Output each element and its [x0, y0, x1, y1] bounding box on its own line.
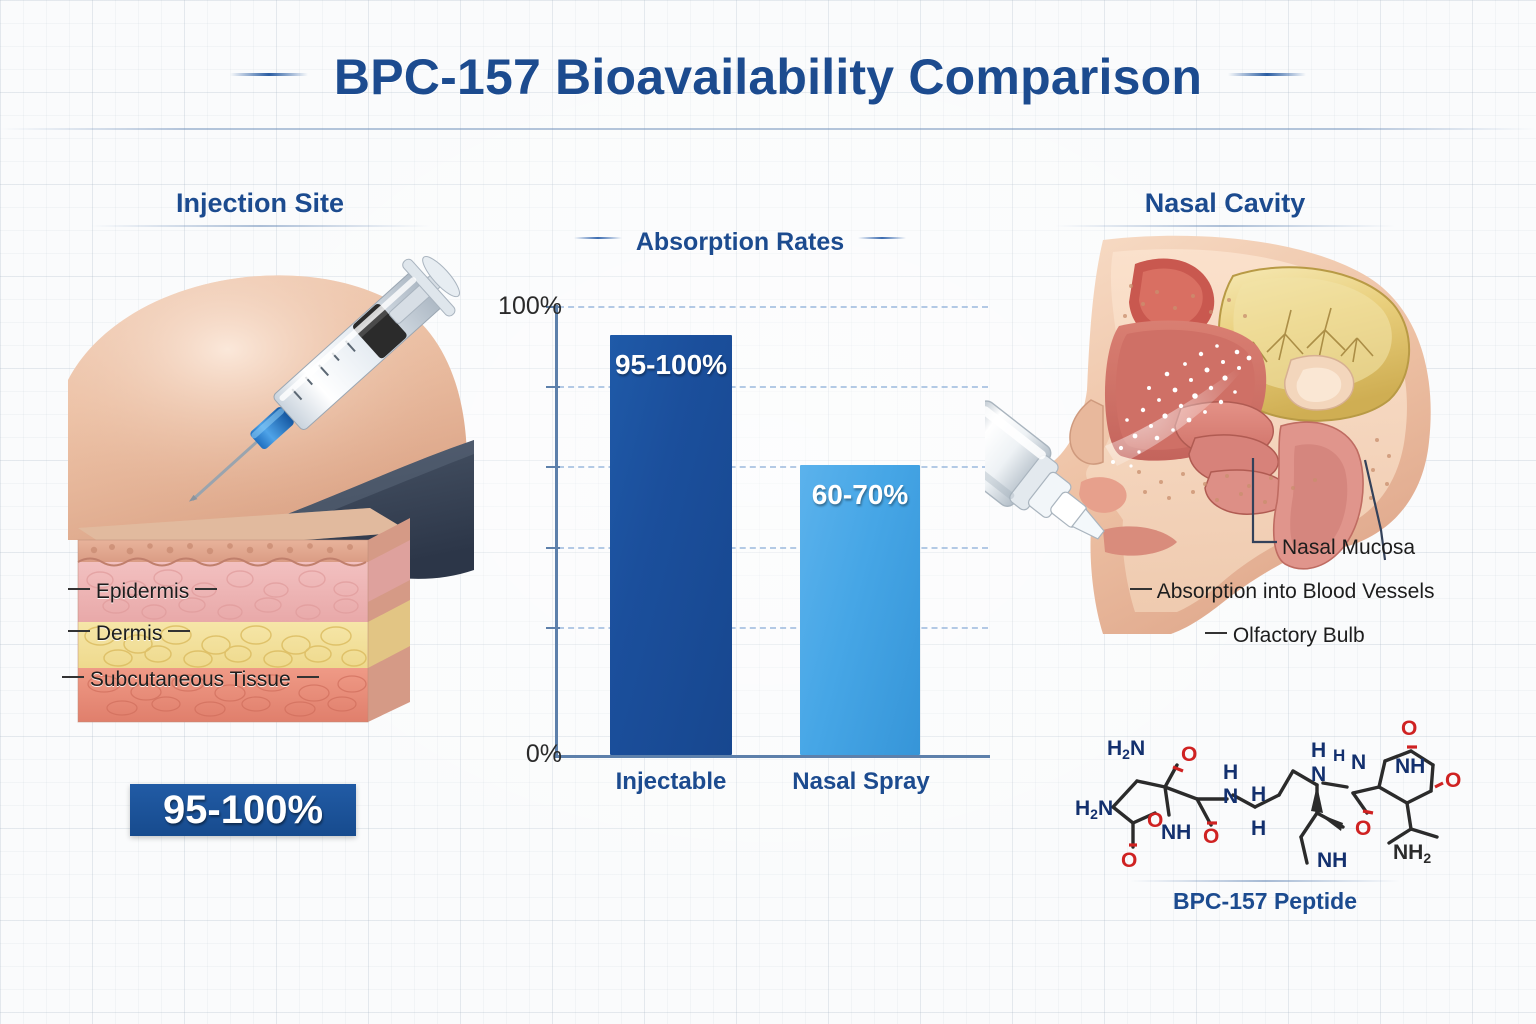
injection-site-illustration: [60, 240, 480, 740]
skin-label-subcutaneous-text: Subcutaneous Tissue: [90, 668, 291, 691]
molecule-label-o-3: O: [1181, 743, 1197, 766]
leader-line: [1205, 632, 1227, 634]
bpc-157-molecule-diagram: H2N H2N O O O O O O O NH N H H H N H NH …: [1055, 695, 1475, 895]
page-title: BPC-157 Bioavailability Comparison: [0, 48, 1536, 106]
chart-title-text: Absorption Rates: [636, 228, 844, 256]
injection-site-heading: Injection Site: [90, 188, 430, 227]
chart-title: Absorption Rates: [500, 228, 980, 257]
molecule-label-n-3: N: [1351, 751, 1366, 774]
bar-label-injectable: Injectable: [598, 768, 744, 796]
peptide-caption-rule: [1130, 880, 1400, 882]
chart-title-dash-right: [858, 237, 906, 239]
leader-line: [62, 676, 84, 678]
injection-site-heading-text: Injection Site: [176, 188, 344, 218]
peptide-caption: BPC-157 Peptide: [1110, 888, 1420, 915]
nasal-label-olfactory: Olfactory Bulb: [1205, 624, 1365, 648]
bar-value-injectable: 95-100%: [610, 349, 732, 381]
page-title-text: BPC-157 Bioavailability Comparison: [334, 49, 1202, 105]
title-dash-left: [230, 73, 308, 76]
molecule-label-nh-3: NH: [1395, 755, 1425, 778]
skin-label-epidermis: Epidermis: [68, 580, 217, 604]
y-axis: [555, 305, 558, 757]
nasal-label-olfactory-text: Olfactory Bulb: [1233, 624, 1365, 647]
heading-underline: [1055, 225, 1395, 227]
skin-label-dermis: Dermis: [68, 622, 190, 646]
skin-label-epidermis-text: Epidermis: [96, 580, 189, 603]
molecule-label-o-6: O: [1401, 717, 1417, 740]
molecule-label-nh-1: NH: [1161, 821, 1191, 844]
leader-line: [168, 630, 190, 632]
nasal-cavity-heading-text: Nasal Cavity: [1145, 188, 1306, 218]
molecule-label-n-1: N: [1223, 785, 1238, 808]
x-axis: [555, 755, 990, 758]
skin-label-dermis-text: Dermis: [96, 622, 163, 645]
leader-line: [195, 588, 217, 590]
absorption-rates-chart: 100% 0% 95-100% 60-70% Injectable Nasal …: [490, 290, 1010, 810]
molecule-label-nh2-end: NH2: [1393, 841, 1431, 866]
ytick-label-100: 100%: [498, 292, 562, 321]
molecule-label-h-4: H: [1311, 739, 1326, 762]
bar-label-nasal-spray: Nasal Spray: [786, 768, 936, 796]
leader-line: [297, 676, 319, 678]
molecule-label-h2n-top: H2N: [1107, 737, 1145, 762]
nasal-cavity-heading: Nasal Cavity: [1055, 188, 1395, 227]
molecule-label-o-4: O: [1203, 825, 1219, 848]
leader-line: [1130, 588, 1152, 590]
leader-line: [68, 630, 90, 632]
nasal-label-absorption-text: Absorption into Blood Vessels: [1157, 580, 1435, 603]
gridline-100: [558, 306, 988, 308]
ytick-label-0: 0%: [526, 740, 562, 769]
injection-bioavailability-value: 95-100%: [163, 788, 323, 833]
molecule-label-h-3: H: [1251, 817, 1266, 840]
molecule-label-n-2: N: [1311, 763, 1326, 786]
molecule-label-o-1: O: [1121, 849, 1137, 872]
molecule-label-h2n-left: H2N: [1075, 797, 1113, 822]
molecule-label-h-5: H: [1333, 746, 1345, 765]
chart-title-dash-left: [574, 237, 622, 239]
skin-label-subcutaneous: Subcutaneous Tissue: [62, 668, 319, 692]
nasal-label-mucosa-text: Nasal Mucosa: [1282, 536, 1415, 559]
title-dash-right: [1228, 73, 1306, 76]
bar-injectable: 95-100%: [610, 335, 732, 755]
leader-line: [68, 588, 90, 590]
title-divider: [0, 128, 1536, 130]
nasal-label-mucosa: Nasal Mucosa: [1282, 536, 1415, 560]
molecule-label-nh-2: NH: [1317, 849, 1347, 872]
molecule-label-o-5: O: [1355, 817, 1371, 840]
molecule-label-o-7: O: [1445, 769, 1461, 792]
bar-nasal-spray: 60-70%: [800, 465, 920, 755]
molecule-label-h-1: H: [1223, 761, 1238, 784]
bar-value-nasal-spray: 60-70%: [800, 479, 920, 511]
nasal-label-absorption: Absorption into Blood Vessels: [1130, 580, 1435, 604]
molecule-label-h-2: H: [1251, 783, 1266, 806]
heading-underline: [90, 225, 430, 227]
injection-bioavailability-badge: 95-100%: [130, 784, 356, 836]
